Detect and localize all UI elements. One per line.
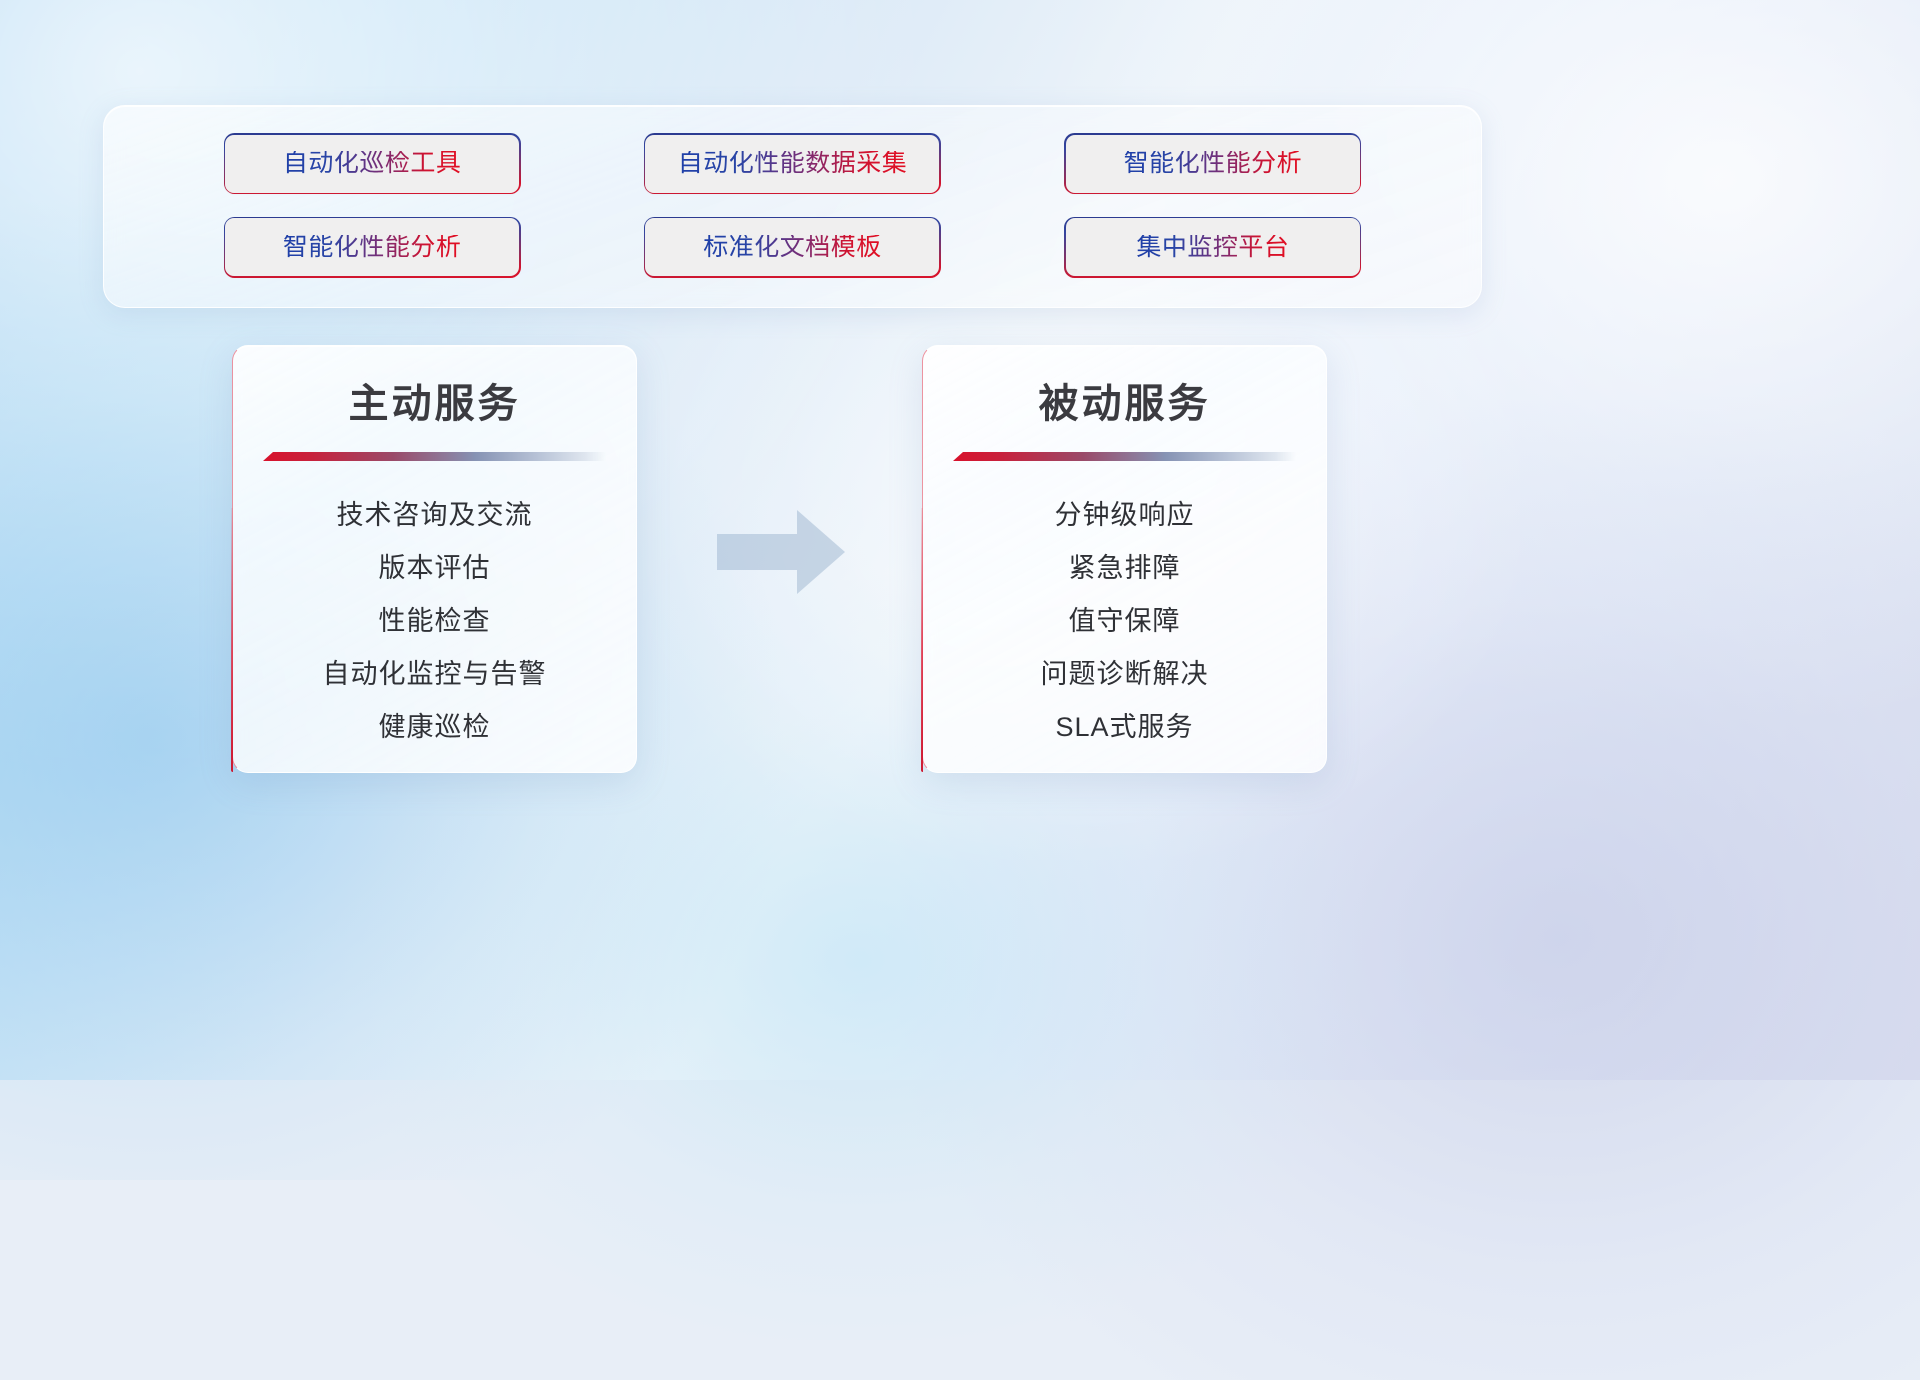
capability-pill-grid: 自动化巡检工具 自动化性能数据采集 智能化性能分析 智能化性能分析 标准化文档模… (104, 106, 1481, 307)
service-card-title: 被动服务 (949, 382, 1300, 426)
divider-bar (953, 452, 1296, 461)
service-list-item: 紧急排障 (1069, 555, 1181, 582)
capability-pill-label: 智能化性能分析 (283, 235, 462, 260)
capability-pill-intelligent-performance-analysis-1[interactable]: 智能化性能分析 (1066, 135, 1360, 193)
capability-pill-label: 标准化文档模板 (703, 235, 882, 260)
service-card-proactive: 主动服务 技术咨询及交流 版本评估 性能检查 自动化监控与告警 健康巡检 (232, 345, 637, 773)
capability-pill-centralized-monitoring-platform[interactable]: 集中监控平台 (1066, 218, 1360, 276)
service-list-item: 自动化监控与告警 (323, 661, 547, 688)
capability-pill-intelligent-performance-analysis-2[interactable]: 智能化性能分析 (225, 218, 519, 276)
service-item-list: 分钟级响应 紧急排障 值守保障 问题诊断解决 SLA式服务 (949, 502, 1300, 741)
capability-pill-label: 智能化性能分析 (1124, 151, 1303, 176)
service-card-divider (953, 448, 1296, 466)
service-list-item: SLA式服务 (1055, 714, 1193, 741)
service-card-divider (263, 448, 606, 466)
service-list-item: 版本评估 (379, 555, 491, 582)
service-list-item: 分钟级响应 (1055, 502, 1195, 529)
capability-pill-label: 自动化巡检工具 (283, 151, 462, 176)
service-list-item: 性能检查 (379, 608, 491, 635)
service-list-item: 问题诊断解决 (1041, 661, 1209, 688)
capability-pill-automation-inspection-tool[interactable]: 自动化巡检工具 (225, 135, 519, 193)
service-item-list: 技术咨询及交流 版本评估 性能检查 自动化监控与告警 健康巡检 (259, 502, 610, 741)
capability-pill-standardized-document-template[interactable]: 标准化文档模板 (645, 218, 939, 276)
capability-panel: 自动化巡检工具 自动化性能数据采集 智能化性能分析 智能化性能分析 标准化文档模… (103, 105, 1482, 308)
arrow-right-icon (711, 504, 851, 600)
service-card-title: 主动服务 (259, 382, 610, 426)
capability-pill-label: 集中监控平台 (1136, 235, 1289, 260)
divider-bar (263, 452, 606, 461)
service-list-item: 值守保障 (1069, 608, 1181, 635)
service-card-reactive: 被动服务 分钟级响应 紧急排障 值守保障 问题诊断解决 SLA式服务 (922, 345, 1327, 773)
capability-pill-label: 自动化性能数据采集 (678, 151, 908, 176)
service-list-item: 健康巡检 (379, 714, 491, 741)
service-list-item: 技术咨询及交流 (337, 502, 533, 529)
capability-pill-automated-performance-data-collection[interactable]: 自动化性能数据采集 (645, 135, 939, 193)
